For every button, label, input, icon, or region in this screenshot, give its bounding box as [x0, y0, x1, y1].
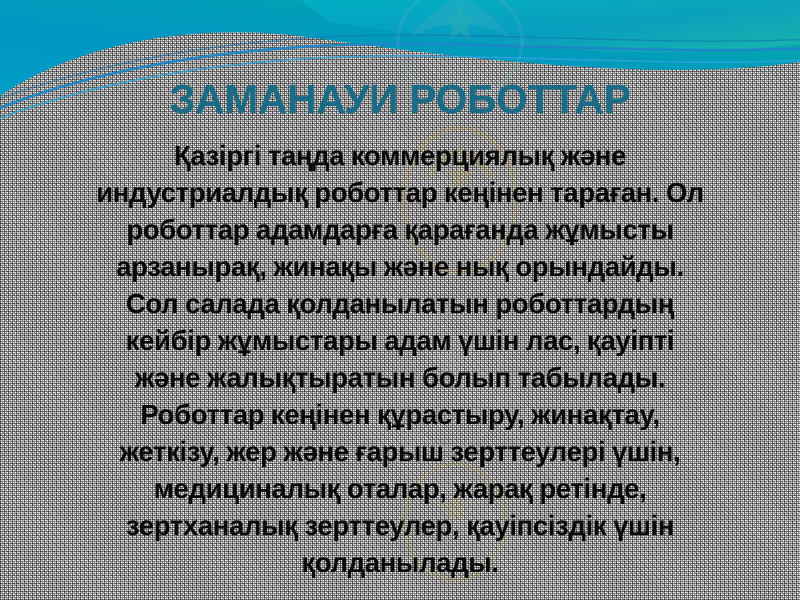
slide-body-line: Роботтар кеңінен құрастыру, жинақтау,	[40, 396, 760, 433]
slide-body-line: индустриалдық роботтар кеңінен тараған. …	[40, 174, 760, 211]
slide-body-line: және жалықтыратын болып табылады.	[40, 359, 760, 396]
slide-body-text: Қазіргі таңда коммерциялық жәнеиндустриа…	[40, 137, 760, 581]
slide-body-line: зертханалық зерттеулер, қауіпсіздік үшін	[40, 507, 760, 544]
page-title: ЗАМАНАУИ РОБОТТАР	[0, 76, 800, 122]
slide-body-line: кейбір жұмыстары адам үшін лас, қауіпті	[40, 322, 760, 359]
slide-body-line: роботтар адамдарға қарағанда жұмысты	[40, 211, 760, 248]
presentation-slide: ЗАМАНАУИ РОБОТТАР Қазіргі таңда коммерци…	[0, 0, 800, 600]
slide-body-line: Сол салада қолданылатын роботтардың	[40, 285, 760, 322]
slide-content: ЗАМАНАУИ РОБОТТАР Қазіргі таңда коммерци…	[0, 0, 800, 600]
slide-body-line: арзанырақ, жинақы және нық орындайды.	[40, 248, 760, 285]
slide-body-line: Қазіргі таңда коммерциялық және	[40, 137, 760, 174]
slide-body-line: қолданылады.	[40, 544, 760, 581]
slide-body-line: жеткізу, жер және ғарыш зерттеулері үшін…	[40, 433, 760, 470]
slide-body-line: медициналық оталар, жарақ ретінде,	[40, 470, 760, 507]
